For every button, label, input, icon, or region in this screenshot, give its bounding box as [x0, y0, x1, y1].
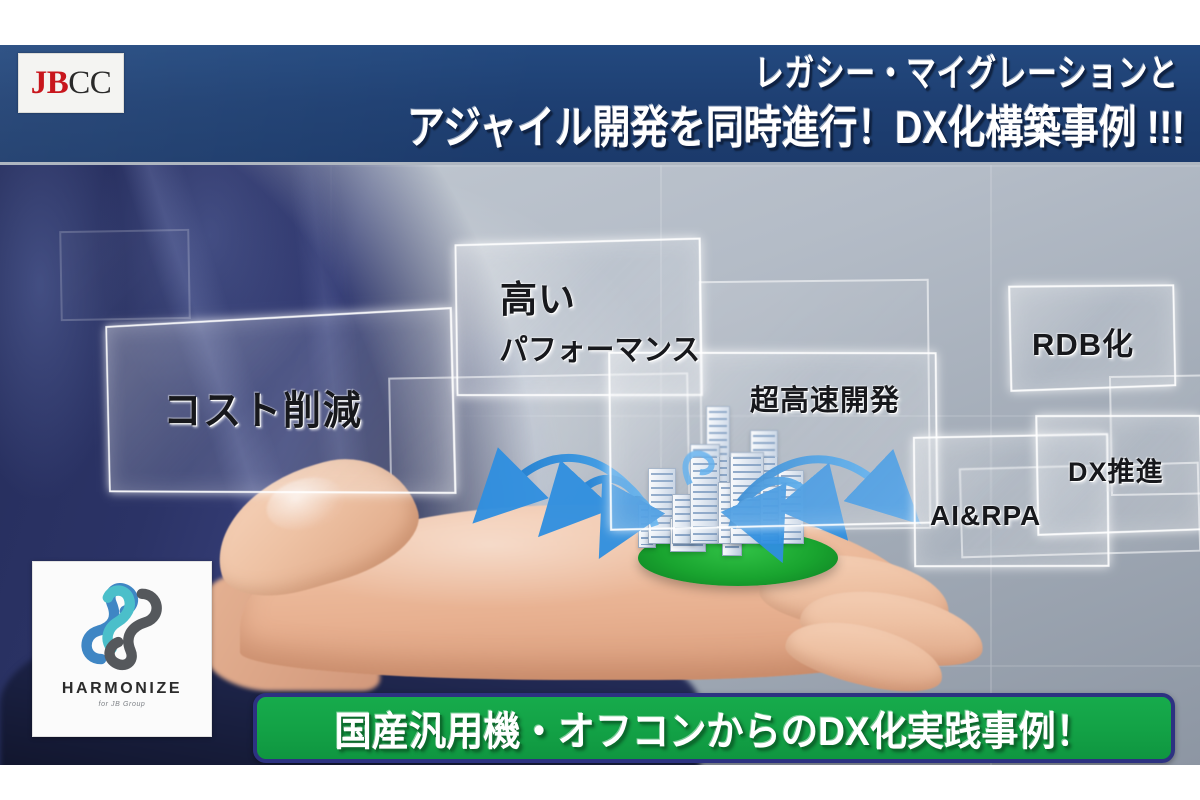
harmonize-subtitle: for JB Group — [99, 701, 146, 708]
decorative-panel-outline — [59, 229, 191, 321]
panel-label-ai-rpa: AI&RPA — [930, 500, 1041, 532]
harmonize-mark-icon — [70, 578, 174, 674]
jbcc-logo-cc: CC — [68, 65, 111, 101]
headline-line-2: アジャイル開発を同時進行！DX化構築事例 !!! — [291, 99, 1190, 157]
promotional-banner: コスト削減 高い パフォーマンス 超高速開発 RDB化 DX推進 AI&RPA … — [0, 45, 1200, 765]
footer-green-banner[interactable]: 国産汎用機・オフコンからのDX化実践事例！ — [253, 693, 1175, 763]
banner-headline: レガシー・マイグレーションと アジャイル開発を同時進行！DX化構築事例 !!! — [120, 49, 1190, 165]
headline-line-1: レガシー・マイグレーションと — [334, 49, 1190, 99]
banner-header: JBCC レガシー・マイグレーションと アジャイル開発を同時進行！DX化構築事例… — [0, 45, 1200, 165]
panel-label-high-performance-line1: 高い — [500, 269, 576, 323]
footer-banner-text: 国産汎用機・オフコンからのDX化実践事例！ — [335, 699, 1093, 757]
panel-label-high-performance-line2: パフォーマンス — [499, 325, 700, 369]
harmonize-wordmark: HARMONIZE — [62, 680, 182, 698]
page-root: コスト削減 高い パフォーマンス 超高速開発 RDB化 DX推進 AI&RPA … — [0, 0, 1200, 800]
panel-label-cost-reduction: コスト削減 — [163, 378, 363, 436]
panel-label-ultra-fast-development: 超高速開発 — [750, 377, 900, 419]
jbcc-logo: JBCC — [18, 53, 124, 113]
panel-label-dx-promotion: DX推進 — [1068, 450, 1164, 489]
jbcc-logo-jb: JB — [31, 65, 69, 101]
panel-label-rdb-migration: RDB化 — [1032, 319, 1134, 364]
harmonize-logo-badge: HARMONIZE for JB Group — [32, 561, 212, 737]
